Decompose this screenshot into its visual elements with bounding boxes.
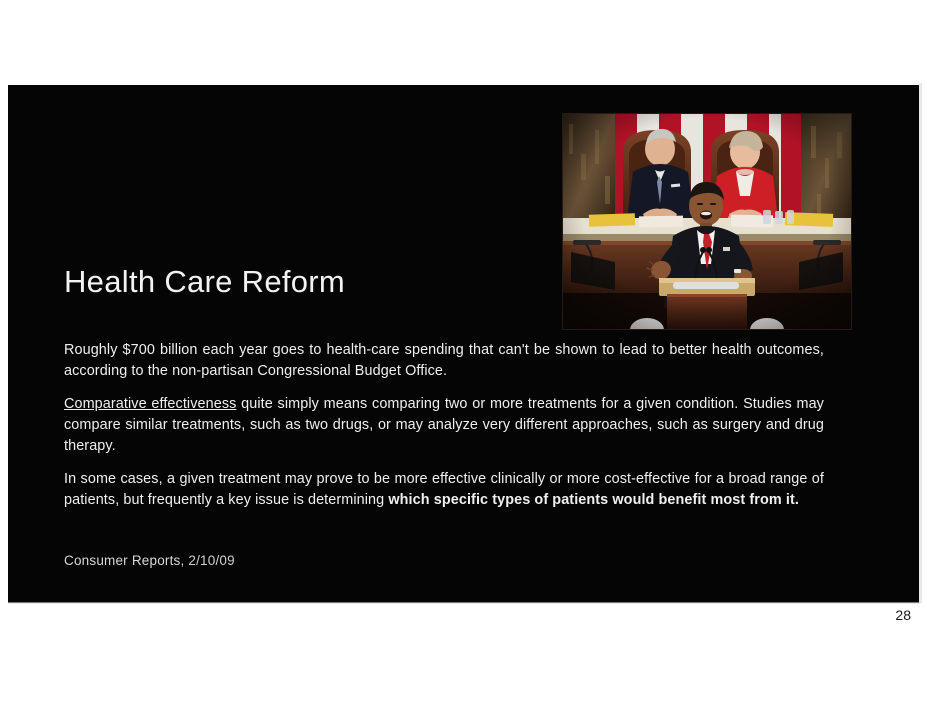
paragraph-1: Roughly $700 billion each year goes to h… <box>64 340 824 382</box>
congress-address-photo <box>562 113 852 330</box>
slide-page: Health Care Reform <box>0 0 927 717</box>
page-number: 28 <box>895 607 911 623</box>
citation-date: , 2/10/09 <box>181 553 235 568</box>
run-bold: which specific types of patients would b… <box>388 492 799 508</box>
slide-edge-bottom <box>8 602 921 604</box>
photo-illustration <box>563 114 851 329</box>
paragraph-3: In some cases, a given treatment may pro… <box>64 469 824 511</box>
run-underlined: Comparative effectiveness <box>64 396 236 412</box>
run-text: Roughly $700 billion each year goes to h… <box>64 342 824 379</box>
source-citation: Consumer Reports, 2/10/09 <box>64 553 235 568</box>
body-copy: Roughly $700 billion each year goes to h… <box>64 340 824 511</box>
slide-edge-right <box>919 83 922 603</box>
presentation-slide: Health Care Reform <box>8 85 919 603</box>
paragraph-2: Comparative effectiveness quite simply m… <box>64 394 824 457</box>
page-title: Health Care Reform <box>64 264 345 300</box>
citation-source: Consumer Reports <box>64 553 181 568</box>
